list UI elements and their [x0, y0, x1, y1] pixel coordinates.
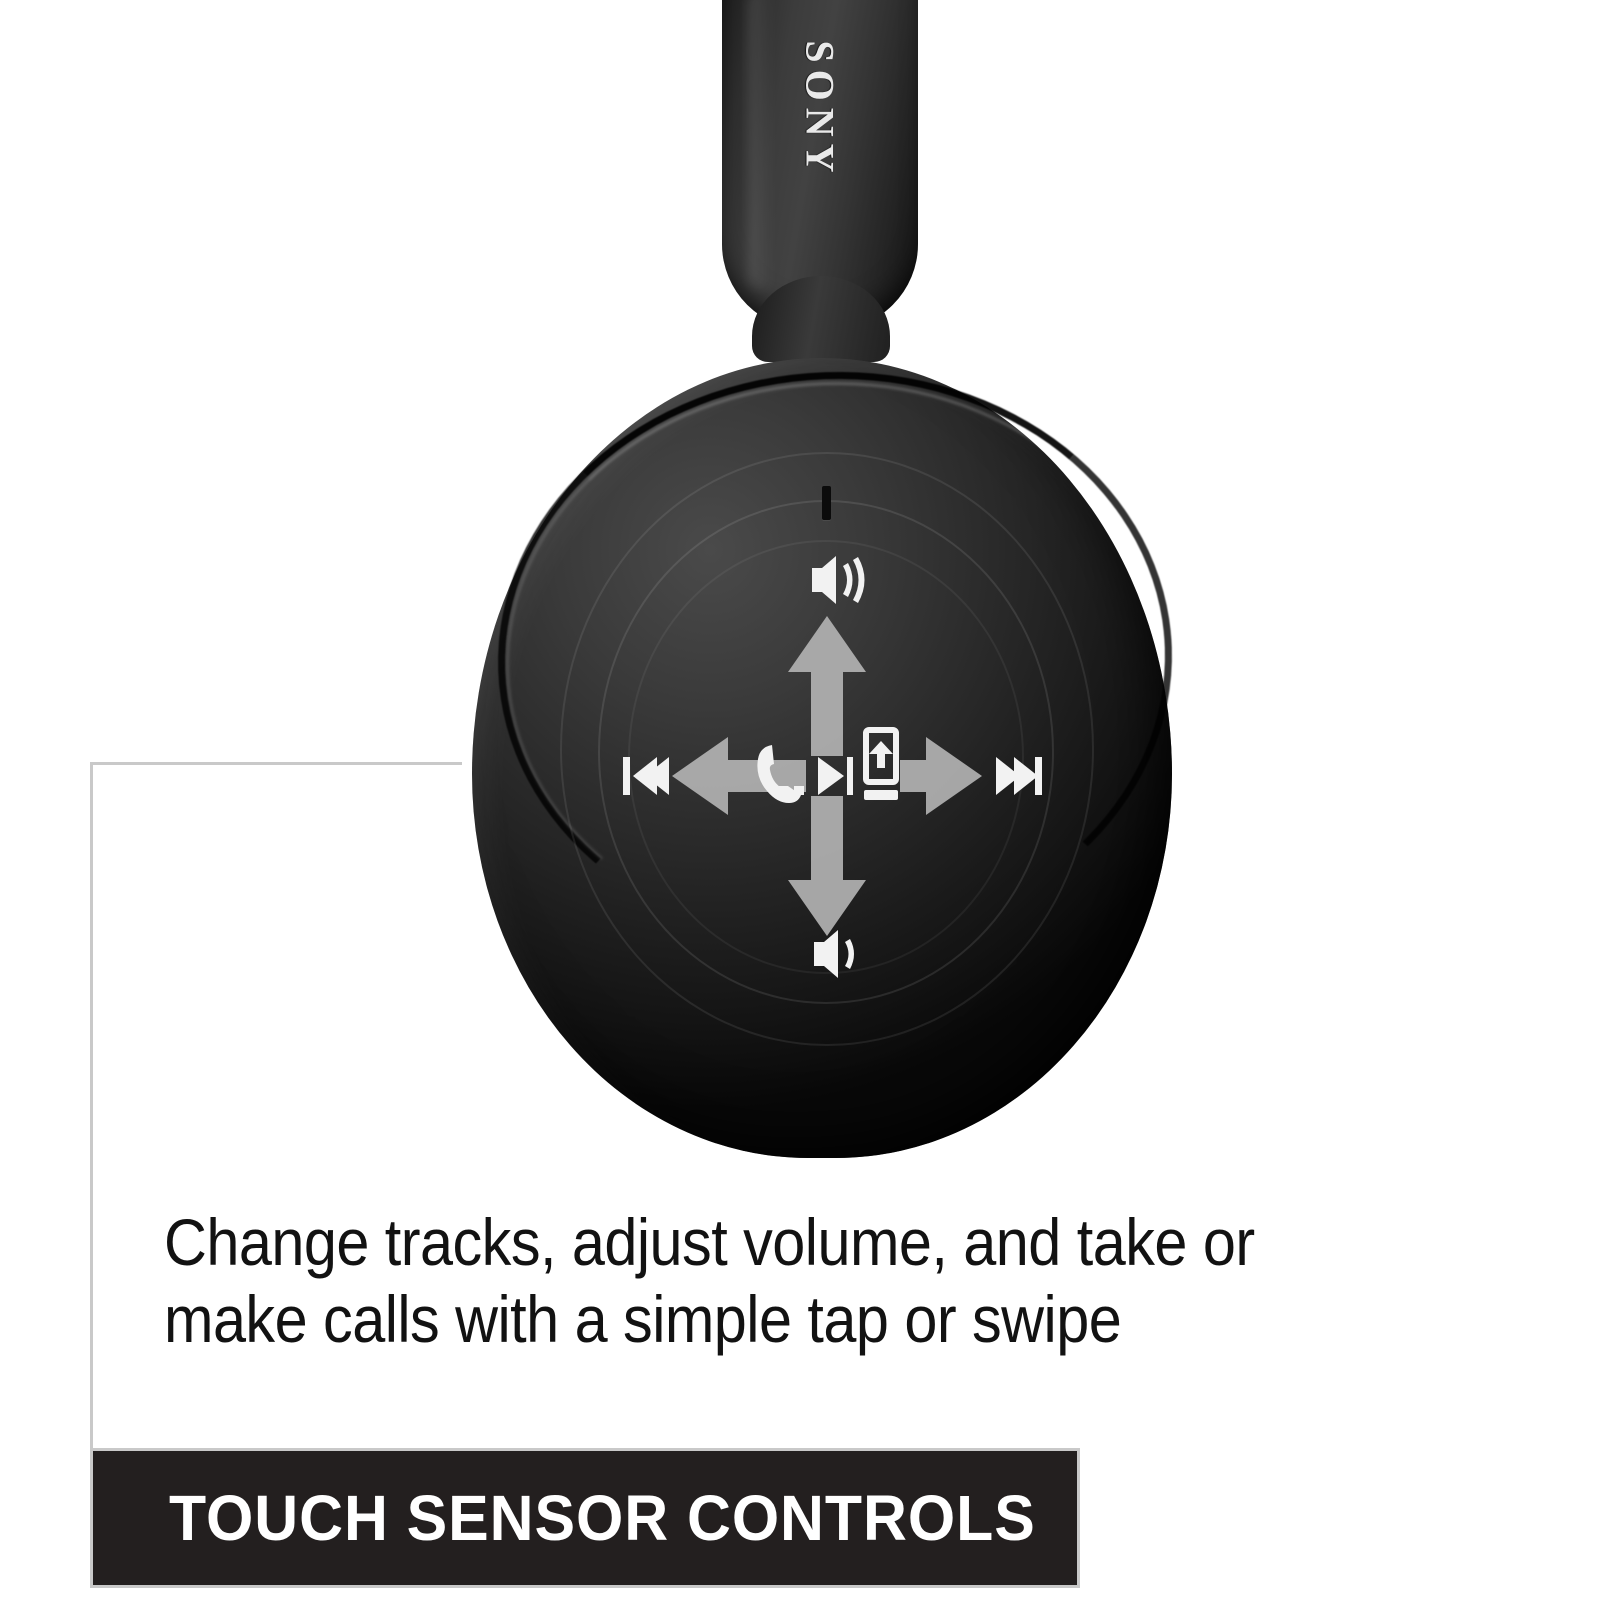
feature-banner: TOUCH SENSOR CONTROLS — [90, 1448, 1080, 1588]
indicator-notch — [822, 486, 831, 520]
sony-brand-wordmark: SONY — [797, 40, 844, 179]
banner-title: TOUCH SENSOR CONTROLS — [169, 1481, 1036, 1555]
callout-vertical-line — [90, 762, 93, 1450]
feature-caption: Change tracks, adjust volume, and take o… — [164, 1204, 1361, 1357]
product-photo: SONY — [0, 0, 1600, 1200]
callout-horizontal-line — [90, 762, 462, 765]
